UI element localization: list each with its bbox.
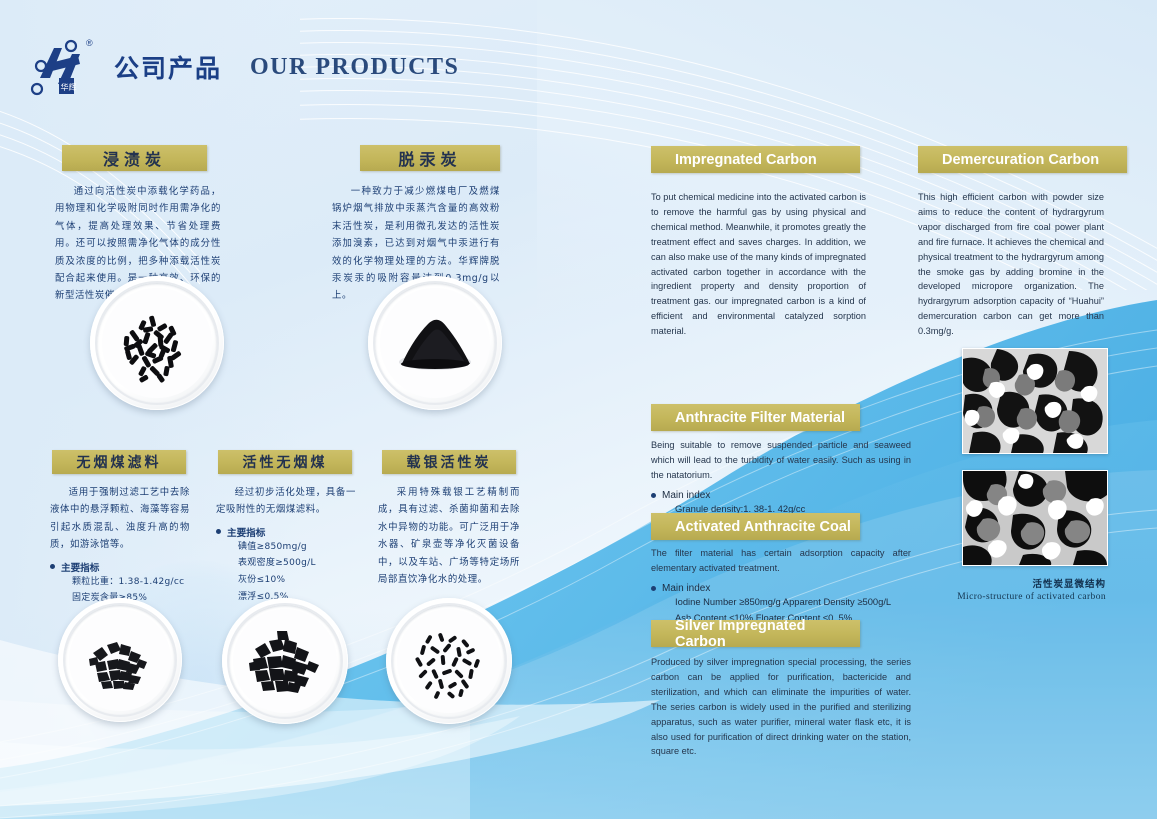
index-line: 表观密度≥500g/L xyxy=(216,555,356,572)
product-title-impregnated-cn: 浸渍炭 xyxy=(62,145,207,171)
index-line: 灰份≤10% xyxy=(216,572,356,589)
product-block-silver-carbon-cn: 采用特殊载银工艺精制而成，具有过滤、杀菌抑菌和去除水中异物的功能。可广泛用于净水… xyxy=(378,484,520,588)
section-title-demercuration-carbon: Demercuration Carbon xyxy=(918,146,1127,173)
section-title-text: Impregnated Carbon xyxy=(675,152,817,168)
product-title-text: 载银活性炭 xyxy=(407,452,492,472)
bullet-icon xyxy=(651,586,656,591)
page-header: ® 华辉 公司产品 OUR PRODUCTS xyxy=(28,34,459,100)
product-body: 采用特殊载银工艺精制而成，具有过滤、杀菌抑菌和去除水中异物的功能。可广泛用于净水… xyxy=(378,484,520,588)
brand-name-en: OUR PRODUCTS xyxy=(250,54,459,81)
product-title-text: 浸渍炭 xyxy=(103,146,166,170)
huahui-logo-icon: ® 华辉 xyxy=(28,34,100,100)
silver-impregnated-photo xyxy=(386,598,512,724)
anthracite-filter-photo xyxy=(58,598,182,722)
micrograph-top xyxy=(962,348,1108,454)
product-title-demercuration-cn: 脱汞炭 xyxy=(360,145,500,171)
index-heading: Main index xyxy=(651,583,911,594)
section-title-silver-impregnated: Silver Impregnated Carbon xyxy=(651,620,860,647)
index-heading: Main index xyxy=(651,490,911,501)
section-body: Being suitable to remove suspended parti… xyxy=(651,438,911,483)
section-title-text: Activated Anthracite Coal xyxy=(675,519,851,535)
section-body: The filter material has certain adsorpti… xyxy=(651,546,911,576)
section-body-demercuration-carbon: This high efficient carbon with powder s… xyxy=(918,190,1104,339)
product-title-text: 无烟煤滤料 xyxy=(77,452,162,472)
product-brochure-page: ® 华辉 公司产品 OUR PRODUCTS 浸渍炭 通过向活性炭中添载化学药品… xyxy=(0,0,1157,819)
index-line: 颗粒比重：1.38-1.42g/cc xyxy=(50,574,190,591)
micrograph-caption-en: Micro-structure of activated carbon xyxy=(900,592,1106,602)
product-title-activated-anthracite-cn: 活性无烟煤 xyxy=(218,450,352,474)
section-title-impregnated-carbon: Impregnated Carbon xyxy=(651,146,860,173)
svg-text:华辉: 华辉 xyxy=(61,82,77,92)
index-heading: 主要指标 xyxy=(216,525,356,539)
section-title-text: Anthracite Filter Material xyxy=(675,410,845,426)
impregnated-carbon-photo xyxy=(90,276,224,410)
section-block-activated-anthracite: The filter material has certain adsorpti… xyxy=(651,546,911,626)
product-block-anthracite-filter-cn: 适用于强制过滤工艺中去除液体中的悬浮颗粒、海藻等容易引起水质混乱、浊度升高的物质… xyxy=(50,484,190,607)
index-heading-text: 主要指标 xyxy=(61,560,99,574)
index-heading-text: 主要指标 xyxy=(227,525,265,539)
product-body-text: 经过初步活化处理，具备一定吸附性的无烟煤滤料。 xyxy=(216,484,356,519)
activated-anthracite-photo xyxy=(222,598,348,724)
bullet-icon xyxy=(216,529,221,534)
product-body-text: 采用特殊载银工艺精制而成，具有过滤、杀菌抑菌和去除水中异物的功能。可广泛用于净水… xyxy=(378,484,520,588)
product-body: 经过初步活化处理，具备一定吸附性的无烟煤滤料。 xyxy=(216,484,356,519)
product-title-text: 活性无烟煤 xyxy=(243,452,328,472)
section-title-activated-anthracite: Activated Anthracite Coal xyxy=(651,513,860,540)
product-title-anthracite-filter-cn: 无烟煤滤料 xyxy=(52,450,186,474)
bullet-icon xyxy=(651,493,656,498)
index-line: 碘值≥850mg/g xyxy=(216,539,356,556)
product-body-text: 适用于强制过滤工艺中去除液体中的悬浮颗粒、海藻等容易引起水质混乱、浊度升高的物质… xyxy=(50,484,190,554)
product-title-text: 脱汞炭 xyxy=(398,146,461,170)
section-title-anthracite-filter: Anthracite Filter Material xyxy=(651,404,860,431)
product-body: 适用于强制过滤工艺中去除液体中的悬浮颗粒、海藻等容易引起水质混乱、浊度升高的物质… xyxy=(50,484,190,554)
micrograph-caption: 活性炭显微结构 Micro-structure of activated car… xyxy=(900,576,1106,602)
section-body-silver-impregnated: Produced by silver impregnation special … xyxy=(651,655,911,759)
micrograph-caption-cn: 活性炭显微结构 xyxy=(900,576,1106,590)
section-title-text: Silver Impregnated Carbon xyxy=(675,618,860,650)
micrograph-bottom xyxy=(962,470,1108,566)
section-body-impregnated-carbon: To put chemical medicine into the activa… xyxy=(651,190,866,339)
svg-text:®: ® xyxy=(86,38,93,48)
bullet-icon xyxy=(50,564,55,569)
demercuration-carbon-photo xyxy=(368,276,502,410)
index-heading-text: Main index xyxy=(662,490,710,501)
brand-name-cn: 公司产品 xyxy=(114,49,222,85)
product-block-activated-anthracite-cn: 经过初步活化处理，具备一定吸附性的无烟煤滤料。 主要指标 碘值≥850mg/g … xyxy=(216,484,356,605)
section-title-text: Demercuration Carbon xyxy=(942,152,1099,168)
product-title-silver-carbon-cn: 载银活性炭 xyxy=(382,450,516,474)
index-heading-text: Main index xyxy=(662,583,710,594)
index-line: Iodine Number ≥850mg/g Apparent Density … xyxy=(651,594,911,610)
index-heading: 主要指标 xyxy=(50,560,190,574)
